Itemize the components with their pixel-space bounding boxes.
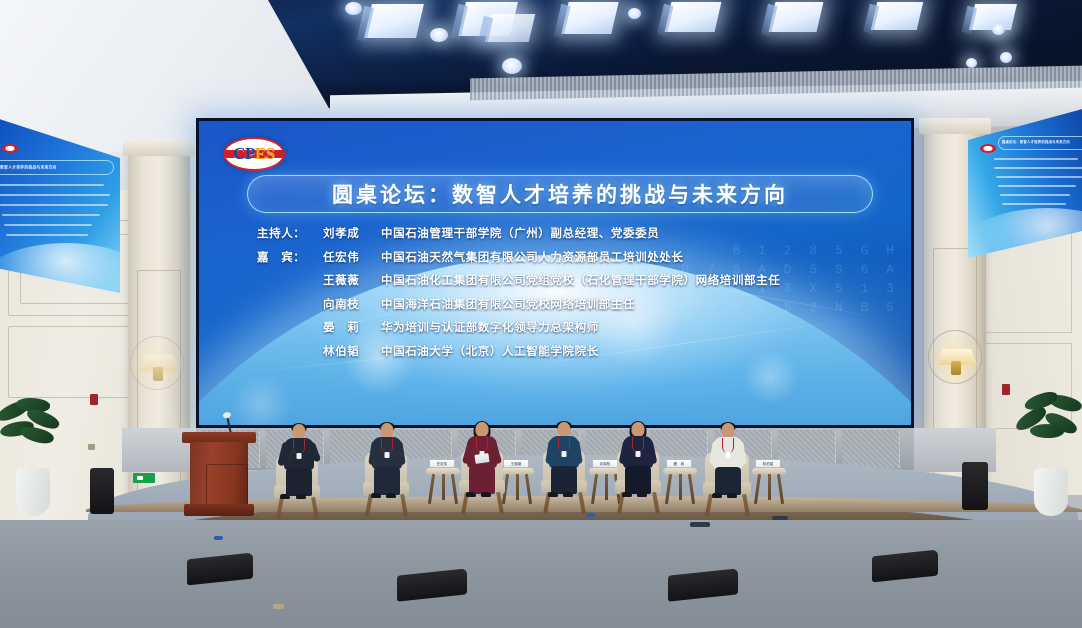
- roster-row: 嘉 宾： 向南枝 中国海洋石油集团有限公司党校网络培训部主任: [257, 296, 877, 312]
- shoe: [481, 492, 491, 497]
- shoe: [296, 494, 306, 499]
- ceiling-downlight: [628, 8, 641, 19]
- shoe: [563, 492, 573, 497]
- main-led-screen-frame: B 1 2 8 5 G H A D 7 S A D 5 S 6 A 5 3 1 …: [196, 118, 914, 428]
- roster-role-label: 主持人：: [257, 225, 323, 241]
- shoe: [466, 492, 476, 497]
- paper-notes: [474, 453, 489, 464]
- forum-title-pill: 圆桌论坛：数智人才培养的挑战与未来方向: [247, 175, 873, 213]
- name-card: 晏 莉: [666, 459, 692, 468]
- roster-line-mini: [0, 194, 110, 196]
- head: [632, 422, 645, 437]
- fire-alarm-indicator: [90, 394, 98, 405]
- head: [722, 423, 735, 438]
- ceiling-downlight: [966, 58, 977, 68]
- shoe: [727, 493, 737, 498]
- potted-plant-right: [1018, 392, 1082, 516]
- conference-stage-scene: 圆桌论坛：数智人才培养的挑战与未来方向 圆桌论坛：数智人才培养的挑战与未来方向 …: [0, 0, 1082, 628]
- roster-row: 嘉 宾： 任宏伟 中国石油天然气集团有限公司人力资源部员工培训处处长: [257, 249, 877, 265]
- roster-row: 嘉 宾： 王薇薇 中国石油化工集团有限公司党组党校（石化管理干部学院）网络培训部…: [257, 272, 877, 288]
- shoe: [637, 492, 647, 497]
- roster-person-name: 刘孝成: [323, 225, 381, 241]
- ceiling-led-panel: [485, 14, 535, 42]
- ceiling-led-panel: [769, 2, 824, 32]
- roster-person-name: 向南枝: [323, 296, 381, 312]
- ceiling-downlight: [430, 28, 448, 42]
- ceiling-downlight: [992, 24, 1005, 35]
- ceiling-downlight: [1000, 52, 1012, 63]
- badge: [385, 452, 390, 458]
- roster-line-mini: [998, 185, 1076, 187]
- ceiling-led-panel: [665, 2, 722, 32]
- roster-row: 主持人： 刘孝成 中国石油管理干部学院（广州）副总经理、党委委员: [257, 225, 877, 241]
- head: [381, 423, 394, 438]
- floor-marker: [273, 604, 284, 609]
- screen-title-mini: 圆桌论坛：数智人才培养的挑战与未来方向: [0, 164, 57, 170]
- stage-cable: [690, 522, 710, 527]
- badge: [562, 451, 567, 457]
- roster-line-mini: [0, 204, 108, 206]
- participant-roster: 主持人： 刘孝成 中国石油管理干部学院（广州）副总经理、党委委员 嘉 宾： 任宏…: [257, 225, 877, 366]
- shoe: [371, 493, 381, 498]
- badge: [297, 453, 302, 459]
- legs: [551, 466, 577, 494]
- roster-person-name: 王薇薇: [323, 272, 381, 288]
- cpes-logo-mini: [980, 144, 996, 153]
- fire-alarm-indicator: [1002, 384, 1010, 395]
- stage-cable: [772, 516, 788, 520]
- lectern-body: [190, 442, 248, 506]
- shoe: [548, 492, 558, 497]
- lectern: [182, 432, 256, 520]
- ceiling-downlight: [345, 2, 362, 15]
- logo-letter-e: E: [255, 144, 266, 164]
- side-speaker: [962, 462, 988, 510]
- panelist-2: [466, 422, 498, 498]
- roster-line-mini: [1002, 203, 1066, 205]
- side-speaker: [90, 468, 114, 514]
- cpes-logo: C P E S: [223, 137, 285, 171]
- screen-title-mini: 圆桌论坛：数智人才培养的挑战与未来方向: [1002, 139, 1070, 144]
- ceiling-led-panel: [871, 2, 923, 30]
- legs: [286, 468, 312, 496]
- roster-line-mini: [994, 167, 1082, 169]
- shoe: [622, 492, 632, 497]
- forum-title: 圆桌论坛：数智人才培养的挑战与未来方向: [332, 179, 788, 209]
- roster-line-mini: [6, 234, 88, 236]
- name-card: 向南枝: [592, 459, 618, 468]
- column-capital: [919, 118, 991, 134]
- roster-person-org: 中国石油化工集团有限公司党组党校（石化管理干部学院）网络培训部主任: [381, 272, 877, 288]
- lanyard: [381, 438, 393, 453]
- roster-person-name: 晏 莉: [323, 319, 381, 335]
- head: [293, 424, 306, 439]
- stage-cable: [586, 513, 595, 517]
- roster-person-org: 中国海洋石油集团有限公司党校网络培训部主任: [381, 296, 877, 312]
- sconce-arm: [153, 367, 163, 381]
- plant-leaf: [1030, 423, 1065, 439]
- roster-person-name: 任宏伟: [323, 249, 381, 265]
- badge: [636, 451, 641, 457]
- badge: [726, 452, 731, 458]
- ceiling-led-panel: [561, 2, 618, 34]
- lanyard: [476, 437, 488, 452]
- panelist-5: [712, 423, 744, 499]
- main-led-screen: B 1 2 8 5 G H A D 7 S A D 5 S 6 A 5 3 1 …: [199, 121, 911, 425]
- lanyard: [558, 437, 570, 452]
- lanyard: [632, 437, 644, 452]
- shoe: [386, 493, 396, 498]
- lanyard: [722, 438, 734, 453]
- roster-person-name: 林伯韬: [323, 343, 381, 359]
- logo-letter-p: P: [245, 144, 255, 164]
- legs: [374, 467, 400, 495]
- stage-cable: [214, 536, 223, 540]
- table-leg: [442, 474, 445, 500]
- wall-sconce-light: [928, 330, 982, 384]
- roster-line-mini: [4, 224, 92, 226]
- table-leg: [605, 474, 608, 500]
- table-leg: [768, 474, 771, 500]
- potted-plant-left: [2, 398, 64, 516]
- panelist-1: [371, 423, 403, 499]
- name-card: 林伯韬: [755, 459, 781, 468]
- lanyard: [293, 439, 305, 454]
- name-card: 任宏伟: [429, 459, 455, 468]
- roster-line-mini: [994, 158, 1078, 160]
- shoe: [280, 494, 290, 499]
- roster-person-org: 中国石油大学（北京）人工智能学院院长: [381, 343, 877, 359]
- panelist-4: [622, 422, 654, 498]
- roster-row: 嘉 宾： 晏 莉 华为培训与认证部数字化领导力总架构师: [257, 319, 877, 335]
- backdrop-panel: [842, 430, 900, 468]
- roster-line-mini: [1000, 194, 1070, 196]
- logo-letter-c: C: [233, 144, 245, 164]
- roster-line-mini: [996, 176, 1082, 178]
- wall-socket: [88, 444, 95, 450]
- legs: [625, 466, 651, 494]
- roster-person-org: 中国石油管理干部学院（广州）副总经理、党委委员: [381, 225, 877, 241]
- logo-letter-s: S: [266, 144, 275, 164]
- panelist-moderator: [282, 424, 316, 502]
- cpes-logo-mini: [2, 144, 18, 153]
- table-leg: [516, 474, 519, 500]
- ceiling-led-panel: [364, 4, 424, 38]
- plant-vase: [16, 468, 50, 516]
- legs: [469, 466, 495, 494]
- roster-line-mini: [0, 184, 104, 186]
- sconce-arm: [951, 361, 961, 375]
- head: [476, 422, 489, 437]
- roster-row: 嘉 宾： 林伯韬 中国石油大学（北京）人工智能学院院长: [257, 343, 877, 359]
- roster-person-org: 中国石油天然气集团有限公司人力资源部员工培训处处长: [381, 249, 877, 265]
- ceiling-downlight: [502, 58, 522, 74]
- legs: [715, 467, 741, 495]
- table-leg: [679, 474, 682, 500]
- lectern-panel-inset: [206, 464, 248, 508]
- roster-role-label: 嘉 宾：: [257, 249, 323, 265]
- plant-vase: [1034, 468, 1068, 516]
- name-card: 王薇薇: [503, 459, 529, 468]
- shoe: [712, 493, 722, 498]
- exit-sign: [133, 473, 155, 483]
- panelist-3: [548, 422, 580, 498]
- wall-sconce-light: [130, 336, 184, 390]
- lectern-base: [184, 504, 254, 516]
- roster-line-mini: [2, 214, 100, 216]
- head: [558, 422, 571, 437]
- roster-person-org: 华为培训与认证部数字化领导力总架构师: [381, 319, 877, 335]
- column-capital: [123, 140, 195, 156]
